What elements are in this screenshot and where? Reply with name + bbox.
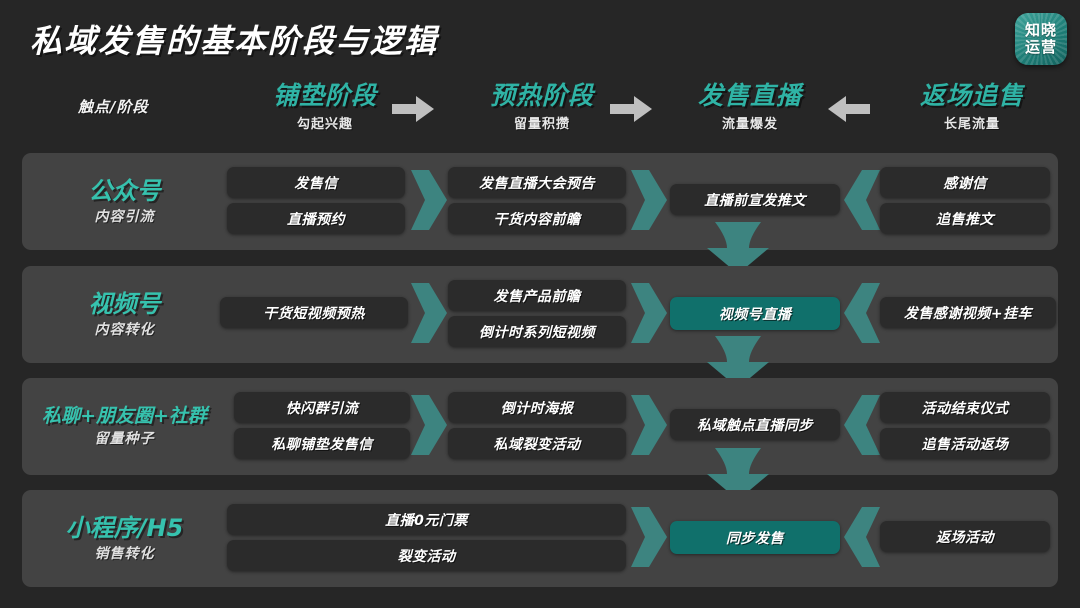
stage-title-4: 返场追售 — [872, 82, 1072, 111]
touchpoint-stage-label: 触点/阶段 — [78, 96, 218, 117]
cell-r2c2b[interactable]: 倒计时系列短视频 — [448, 316, 626, 347]
cell-r3c2b[interactable]: 私域裂变活动 — [448, 428, 626, 459]
chevron-right-icon-r3b — [631, 395, 667, 455]
chevron-right-icon-r1b — [631, 170, 667, 230]
stage-header: 触点/阶段 铺垫阶段 勾起兴趣 预热阶段 留量积攒 发售直播 流量爆发 返场追售… — [0, 82, 1080, 140]
cell-r4c4a[interactable]: 返场活动 — [880, 521, 1050, 552]
page-title: 私域发售的基本阶段与逻辑 — [30, 16, 438, 62]
row-label-siliao: 私聊+朋友圈+社群 留量种子 — [22, 405, 227, 449]
stage-subtitle-4: 长尾流量 — [872, 113, 1072, 132]
cell-r1c1a[interactable]: 发售信 — [227, 167, 405, 198]
cell-r1c1b[interactable]: 直播预约 — [227, 203, 405, 234]
chevron-left-icon-r1 — [844, 170, 880, 230]
logo-line-1: 知晓 — [1025, 23, 1057, 39]
chevron-right-icon-r1a — [411, 170, 447, 230]
channel-row-miniprogram: 小程序/H5 销售转化 直播0元门票 裂变活动 同步发售 返场活动 — [22, 490, 1058, 587]
stage-column-4: 返场追售 长尾流量 — [872, 82, 1072, 132]
row-label-sub: 内容引流 — [22, 206, 227, 226]
cell-r4c1a[interactable]: 直播0元门票 — [227, 504, 626, 535]
chevron-left-icon-r4 — [844, 507, 880, 567]
arrow-right-icon-2 — [610, 96, 652, 122]
arrow-left-icon-1 — [828, 96, 870, 122]
stage-subtitle-3: 流量爆发 — [650, 113, 850, 132]
row-label-sub: 留量种子 — [22, 428, 227, 448]
row-label-sub: 内容转化 — [22, 319, 227, 339]
row-label-sub: 销售转化 — [22, 543, 227, 563]
chevron-right-icon-r2b — [631, 283, 667, 343]
cell-r2c1a[interactable]: 干货短视频预热 — [220, 297, 408, 328]
cell-r4c1b[interactable]: 裂变活动 — [227, 540, 626, 571]
row-label-miniprogram: 小程序/H5 销售转化 — [22, 514, 227, 564]
chevron-left-icon-r2 — [844, 283, 880, 343]
stage-title-3: 发售直播 — [650, 82, 850, 111]
chevron-left-icon-r3 — [844, 395, 880, 455]
cell-r2c3a-highlight[interactable]: 视频号直播 — [670, 297, 840, 330]
chevron-right-icon-r4 — [631, 507, 667, 567]
cell-r3c2a[interactable]: 倒计时海报 — [448, 392, 626, 423]
row-label-main: 视频号 — [22, 290, 227, 319]
cell-r3c1b[interactable]: 私聊铺垫发售信 — [234, 428, 410, 459]
channel-row-shipinhao: 视频号 内容转化 干货短视频预热 发售产品前瞻 倒计时系列短视频 视频号直播 发… — [22, 266, 1058, 363]
row-label-gongzhonghao: 公众号 内容引流 — [22, 177, 227, 227]
cell-r1c3a[interactable]: 直播前宣发推文 — [670, 184, 840, 215]
cell-r1c2a[interactable]: 发售直播大会预告 — [448, 167, 626, 198]
channel-row-gongzhonghao: 公众号 内容引流 发售信 直播预约 发售直播大会预告 干货内容前瞻 直播前宣发推… — [22, 153, 1058, 250]
cell-r2c2a[interactable]: 发售产品前瞻 — [448, 280, 626, 311]
channel-row-siliao: 私聊+朋友圈+社群 留量种子 快闪群引流 私聊铺垫发售信 倒计时海报 私域裂变活… — [22, 378, 1058, 475]
cell-r1c4b[interactable]: 追售推文 — [880, 203, 1050, 234]
row-label-shipinhao: 视频号 内容转化 — [22, 290, 227, 340]
brand-logo: 知晓 运营 — [1015, 13, 1067, 65]
cell-r1c4a[interactable]: 感谢信 — [880, 167, 1050, 198]
stage-column-3: 发售直播 流量爆发 — [650, 82, 850, 132]
cell-r3c4b[interactable]: 追售活动返场 — [880, 428, 1050, 459]
cell-r2c4a[interactable]: 发售感谢视频+挂车 — [880, 297, 1056, 328]
row-label-main: 小程序/H5 — [22, 514, 227, 543]
row-label-main: 私聊+朋友圈+社群 — [22, 405, 227, 428]
chevron-right-icon-r2a — [411, 283, 447, 343]
chevron-right-icon-r3a — [411, 395, 447, 455]
row-label-main: 公众号 — [22, 177, 227, 206]
logo-line-2: 运营 — [1025, 40, 1057, 56]
arrow-right-icon-1 — [392, 96, 434, 122]
cell-r3c1a[interactable]: 快闪群引流 — [234, 392, 410, 423]
cell-r4c3a-highlight[interactable]: 同步发售 — [670, 521, 840, 554]
cell-r3c4a[interactable]: 活动结束仪式 — [880, 392, 1050, 423]
slide-canvas: 私域发售的基本阶段与逻辑 知晓 运营 触点/阶段 铺垫阶段 勾起兴趣 预热阶段 … — [0, 0, 1080, 608]
cell-r3c3a[interactable]: 私域触点直播同步 — [670, 409, 840, 440]
cell-r1c2b[interactable]: 干货内容前瞻 — [448, 203, 626, 234]
